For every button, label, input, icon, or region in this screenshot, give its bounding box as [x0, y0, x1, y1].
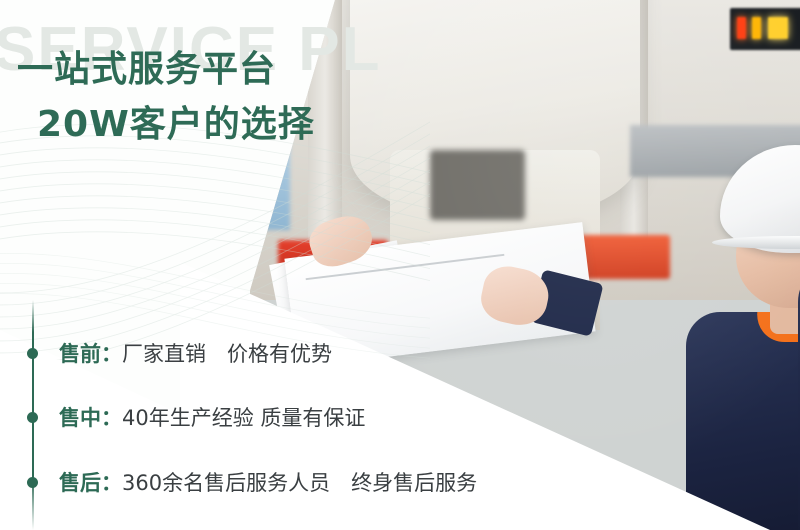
- bullet-body: 360余名售后服务人员 终身售后服务: [122, 471, 477, 495]
- headline-line-1: 一站式服务平台: [17, 40, 276, 92]
- bullet-label: 售后：: [59, 471, 122, 495]
- bullet-label: 售前：: [59, 342, 122, 366]
- bullet-dot-icon: [27, 412, 38, 423]
- headline-line-2: 20W客户的选择: [37, 95, 315, 147]
- promo-banner: 人和职业: [0, 0, 800, 530]
- decorative-waves: [0, 110, 430, 360]
- bullet-label: 售中：: [59, 406, 122, 430]
- text-panel: SERVICE PL 一站式服务平台 20W客户的选择 售前：厂家直销 价格有优…: [0, 0, 430, 530]
- bullet-dot-icon: [27, 348, 38, 359]
- bullet-body: 厂家直销 价格有优势: [122, 342, 332, 366]
- list-item: 售中：40年生产经验 质量有保证: [0, 402, 365, 432]
- list-item: 售后：360余名售后服务人员 终身售后服务: [0, 467, 477, 497]
- bullet-body: 40年生产经验 质量有保证: [122, 406, 365, 430]
- list-item: 售前：厂家直销 价格有优势: [0, 338, 332, 368]
- bullet-dot-icon: [27, 477, 38, 488]
